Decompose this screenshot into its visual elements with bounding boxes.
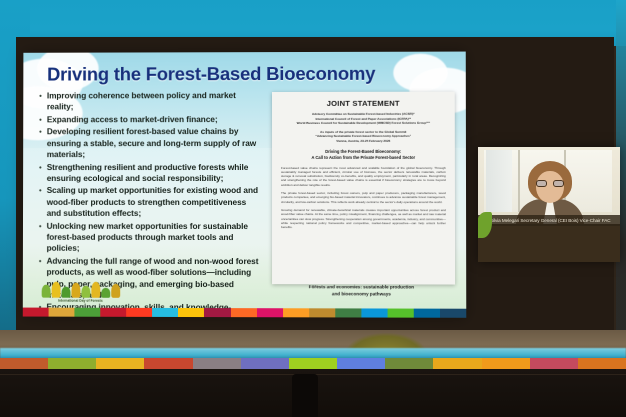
document-paragraph: Forest-based value chains represent the …: [281, 165, 446, 187]
band-segment: [309, 308, 335, 317]
list-item: • Improving coherence between policy and…: [39, 90, 260, 113]
band-segment: [335, 308, 361, 317]
list-item-label: Expanding access to market-driven financ…: [47, 114, 218, 126]
list-item: • Unlocking new market opportunities for…: [39, 220, 260, 254]
bullet-marker-icon: •: [39, 127, 42, 161]
organization-line: World Business Council for Sustainable D…: [281, 121, 446, 126]
window-mullion: [518, 150, 520, 212]
conference-room-scene: Driving the Forest-Based Bioeconomy • Im…: [0, 0, 626, 417]
band-segment: [152, 308, 178, 317]
band-segment: [100, 308, 126, 317]
list-item: • Developing resilient forest-based valu…: [39, 126, 260, 160]
sdg-color-band: [23, 308, 466, 318]
band-segment: [0, 358, 48, 369]
band-segment: [204, 308, 230, 317]
band-segment: [385, 358, 433, 369]
slide-tagline: Forests and economies: sustainable produ…: [271, 284, 452, 297]
document-heading: JOINT STATEMENT: [281, 99, 446, 108]
band-segment: [337, 358, 385, 369]
band-segment: [530, 358, 578, 369]
list-item-label: Scaling up market opportunities for exis…: [47, 185, 260, 219]
band-segment: [241, 358, 289, 369]
list-item: • Strengthening resilient and productive…: [39, 162, 260, 185]
logo-caption: International Day of Forests: [35, 299, 126, 303]
band-segment: [193, 358, 241, 369]
subtitle-line: A Call to Action from the Private Forest…: [281, 154, 446, 160]
bullet-marker-icon: •: [39, 162, 42, 185]
document-organizations: Advisory Committee on Sustainable Forest…: [281, 112, 446, 126]
list-item-label: Developing resilient forest-based value …: [47, 126, 260, 160]
list-item: • Expanding access to market-driven fina…: [39, 114, 260, 126]
participant-name-bar: Silvia Melegari Secretary General (CEI B…: [478, 215, 620, 226]
document-subtitle: Driving the Forest-Based Bioeconomy: A C…: [281, 148, 446, 160]
band-segment: [482, 358, 530, 369]
band-segment: [361, 308, 387, 317]
webcam-lower-shadow: [478, 224, 620, 262]
joint-statement-document: JOINT STATEMENT Advisory Committee on Su…: [272, 92, 455, 285]
band-segment: [23, 308, 49, 317]
band-segment: [126, 308, 152, 317]
document-paragraph: Growing demand for renewable, climate-be…: [281, 208, 446, 230]
document-context: As inputs of the private forest sector t…: [281, 130, 446, 144]
bullet-marker-icon: •: [39, 185, 42, 219]
window-blind: [486, 150, 512, 212]
band-segment: [96, 358, 144, 369]
slide-title: Driving the Forest-Based Bioeconomy: [47, 63, 375, 86]
context-line: Vienna, Austria, 23-25 February 2026: [281, 139, 446, 144]
participant-face: [536, 171, 564, 203]
international-day-of-forests-logo: International Day of Forests: [35, 280, 126, 303]
glasses-icon: [536, 180, 564, 187]
list-item-label: Strengthening resilient and productive f…: [47, 162, 260, 185]
band-segment: [230, 308, 256, 317]
desk-microphone: [292, 374, 318, 417]
band-segment: [257, 308, 283, 317]
band-segment: [578, 358, 626, 369]
bullet-marker-icon: •: [39, 114, 42, 125]
band-segment: [48, 358, 96, 369]
band-segment: [289, 358, 337, 369]
band-segment: [75, 308, 101, 317]
band-segment: [414, 309, 440, 318]
band-segment: [440, 309, 466, 318]
list-item: • Scaling up market opportunities for ex…: [39, 185, 260, 219]
band-segment: [283, 308, 309, 317]
tagline-line: and bioeconomy pathways: [271, 291, 452, 298]
cloud-shape: [393, 54, 447, 92]
bullet-marker-icon: •: [39, 220, 42, 254]
presentation-slide: Driving the Forest-Based Bioeconomy • Im…: [23, 52, 466, 318]
band-segment: [49, 308, 75, 317]
band-segment: [433, 358, 481, 369]
band-segment: [178, 308, 204, 317]
list-item-label: Unlocking new market opportunities for s…: [47, 220, 260, 254]
band-segment: [144, 358, 192, 369]
room-color-band: [0, 358, 626, 369]
participant-name-label: Silvia Melegari Secretary General (CEI B…: [490, 218, 611, 223]
band-segment: [387, 309, 413, 318]
list-item-label: Improving coherence between policy and m…: [47, 90, 260, 113]
document-paragraph: The private forest-based sector, includi…: [281, 191, 446, 204]
video-participant-panel[interactable]: Silvia Melegari Secretary General (CEI B…: [478, 147, 620, 262]
bullet-marker-icon: •: [39, 90, 42, 113]
forest-logo-icon: [35, 280, 126, 298]
